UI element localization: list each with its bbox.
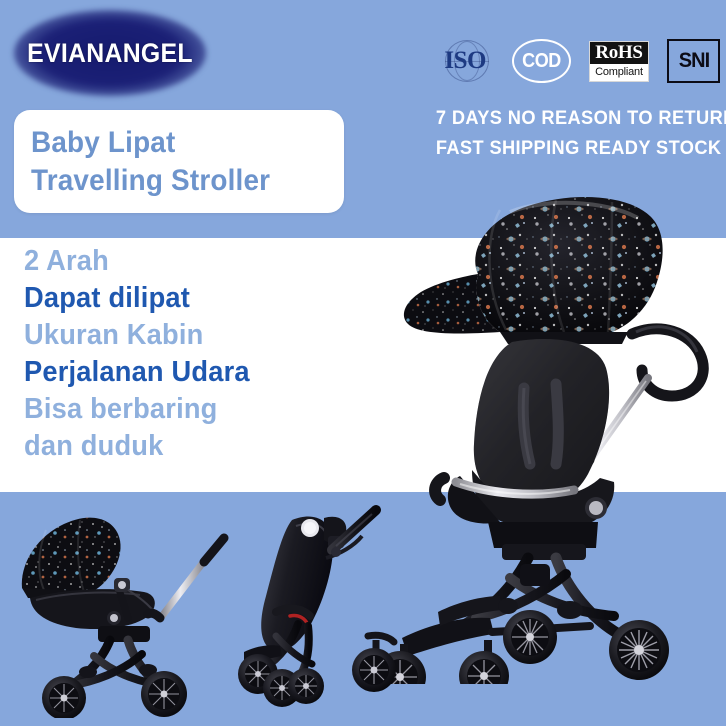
feature-list: 2 Arah Dapat dilipat Ukuran Kabin Perjal…	[24, 243, 354, 465]
side-canopy-graphic	[22, 518, 121, 600]
folded-caster-wheel	[352, 635, 396, 692]
iso-badge-label: ISO	[444, 47, 486, 75]
certification-badges: ISO COD RoHS Compliant SNI	[436, 36, 720, 86]
seat-graphic	[435, 339, 614, 560]
folded-wheels-graphic	[238, 635, 396, 707]
feature-item-dan-duduk: dan duduk	[24, 428, 334, 465]
sni-badge: SNI	[667, 39, 720, 83]
promo-text-block: 7 DAYS NO REASON TO RETURN FAST SHIPPING…	[430, 104, 722, 164]
product-title-card: Baby Lipat Travelling Stroller	[14, 110, 344, 213]
sni-badge-label: SNI	[678, 49, 708, 73]
promo-return-policy: 7 DAYS NO REASON TO RETURN	[436, 104, 716, 134]
brand-logo-text: EVIANANGEL	[22, 10, 199, 96]
feature-item-ukuran-kabin: Ukuran Kabin	[24, 317, 334, 354]
rohs-badge-label-top: RoHS	[590, 42, 648, 64]
wheel-rear	[609, 620, 669, 680]
side-wheel-rear	[141, 671, 187, 717]
wheel-middle	[503, 610, 557, 664]
side-handle-graphic	[148, 538, 224, 618]
frame-and-wheels-graphic	[374, 558, 669, 684]
side-frame-graphic	[42, 640, 187, 718]
cod-badge: COD	[512, 39, 571, 83]
rohs-badge-label-bottom: Compliant	[590, 64, 648, 81]
iso-badge: ISO	[436, 38, 494, 84]
feature-item-perjalanan-udara: Perjalanan Udara	[24, 354, 334, 391]
canopy-graphic	[404, 197, 663, 344]
stroller-main-photo	[360, 182, 726, 684]
cod-badge-label: COD	[522, 50, 561, 73]
feature-item-bisa-berbaring: Bisa berbaring	[24, 391, 334, 428]
promo-shipping-stock: FAST SHIPPING READY STOCK	[436, 134, 716, 164]
folded-body-graphic	[261, 517, 346, 652]
stroller-side-view-photo	[2, 500, 230, 718]
feature-item-2-arah: 2 Arah	[24, 243, 334, 280]
stroller-folded-photo	[236, 496, 398, 718]
wheel-front-right	[459, 640, 509, 684]
rohs-badge: RoHS Compliant	[589, 41, 649, 82]
product-title-line-1: Baby Lipat	[31, 124, 322, 162]
product-poster: EVIANANGEL Baby Lipat Travelling Strolle…	[0, 0, 726, 726]
side-wheel-front	[42, 676, 86, 718]
product-title-line-2: Travelling Stroller	[31, 162, 322, 200]
feature-item-dapat-dilipat: Dapat dilipat	[24, 280, 334, 317]
